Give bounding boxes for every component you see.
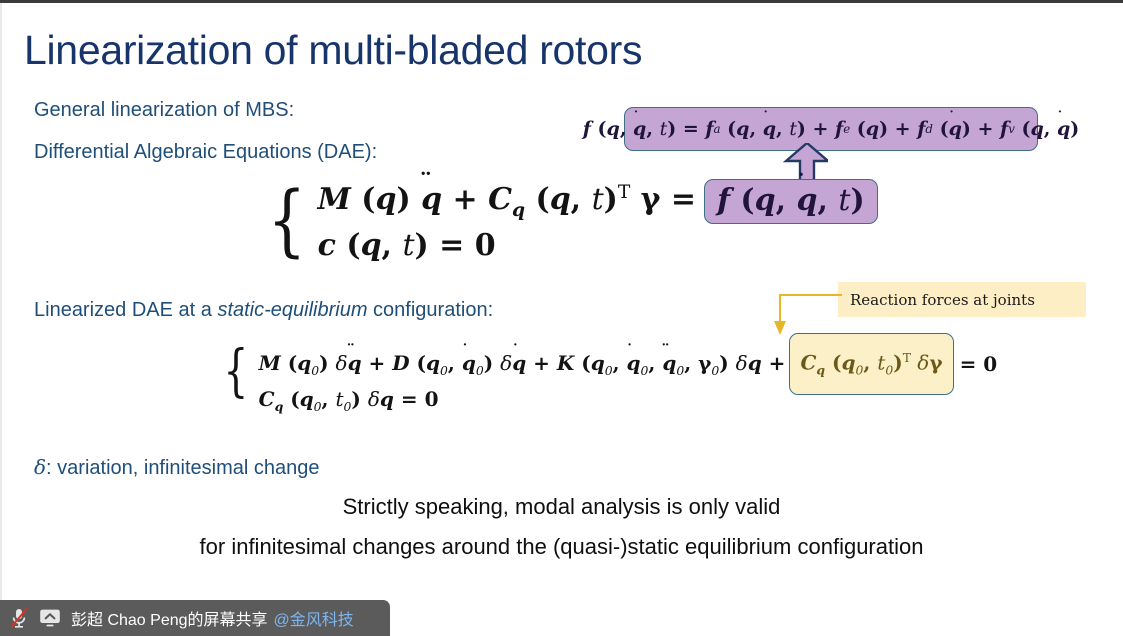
heading-linearized-dae: Linearized DAE at a static-equilibrium c… xyxy=(34,299,493,322)
screen-share-icon[interactable] xyxy=(39,608,61,628)
page-title: Linearization of multi-bladed rotors xyxy=(24,27,642,74)
highlighted-reaction-force-term: Cq (q0, t0)T δγ xyxy=(789,333,953,395)
share-organization-label: @金风科技 xyxy=(274,606,354,630)
delta-definition-note: δ: variation, infinitesimal change xyxy=(34,455,320,480)
linearized-equation-system: { M (q0) δ̈q + D (q0, ̇q0) δ̇q + K (q0, … xyxy=(218,347,997,414)
system-brace: { xyxy=(267,187,306,256)
microphone-muted-icon[interactable] xyxy=(9,607,29,629)
dae-equation-line-2: c (q, t) = 0 xyxy=(318,228,878,263)
heading-linearized-emphasis: static-equilibrium xyxy=(217,299,367,321)
delta-definition-text: : variation, infinitesimal change xyxy=(46,457,319,479)
linearized-equation-line-1: M (q0) δ̈q + D (q0, ̇q0) δ̇q + K (q0, ̇q… xyxy=(259,347,998,381)
tagline-line-2: for infinitesimal changes around the (qu… xyxy=(0,534,1123,560)
delta-symbol: δ xyxy=(34,455,46,479)
reaction-forces-callout: Reaction forces at joints xyxy=(838,282,1086,317)
heading-linearized-prefix: Linearized DAE at a xyxy=(34,299,217,321)
tagline-line-1: Strictly speaking, modal analysis is onl… xyxy=(0,494,1123,520)
callout-connector-arrow xyxy=(760,293,842,337)
presentation-slide: Linearization of multi-bladed rotors Gen… xyxy=(0,0,1123,636)
force-decomposition-box: f (q, ̇q, t) = fa (q, ̇q, t) + fe (q) + … xyxy=(624,107,1038,151)
highlighted-force-term: f (q, ̇q, t) xyxy=(704,179,878,224)
linearized-system-brace: { xyxy=(223,347,248,397)
dae-equation-system: { M (q) ̈q + Cq (q, t)T γ = f (q, ̇q, t)… xyxy=(262,179,878,263)
share-presenter-label: 彭超 Chao Peng的屏幕共享 xyxy=(71,606,268,630)
heading-general-linearization: General linearization of MBS: xyxy=(34,99,294,122)
dae-equation-line-1: M (q) ̈q + Cq (q, t)T γ = f (q, ̇q, t) xyxy=(318,179,878,224)
heading-differential-algebraic-equations: Differential Algebraic Equations (DAE): xyxy=(34,141,377,164)
heading-linearized-suffix: configuration: xyxy=(368,299,494,321)
screen-share-bar[interactable]: 彭超 Chao Peng的屏幕共享 @金风科技 xyxy=(0,600,390,636)
